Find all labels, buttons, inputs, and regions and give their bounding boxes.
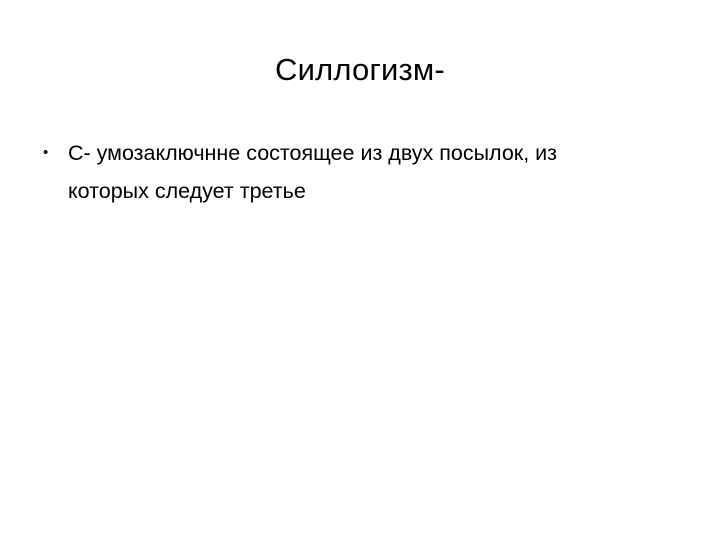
bullet-point-icon: • bbox=[43, 134, 59, 172]
bullet-list: • С- умозаключнне состоящее из двух посы… bbox=[36, 134, 636, 210]
list-item: • С- умозаключнне состоящее из двух посы… bbox=[36, 134, 636, 210]
list-item-label: С- умозаключнне состоящее из двух посыло… bbox=[68, 134, 636, 210]
slide-body: • С- умозаключнне состоящее из двух посы… bbox=[36, 134, 636, 210]
slide-title: Силлогизм- bbox=[0, 52, 720, 88]
presentation-slide: Силлогизм- • С- умозаключнне состоящее и… bbox=[0, 0, 720, 540]
